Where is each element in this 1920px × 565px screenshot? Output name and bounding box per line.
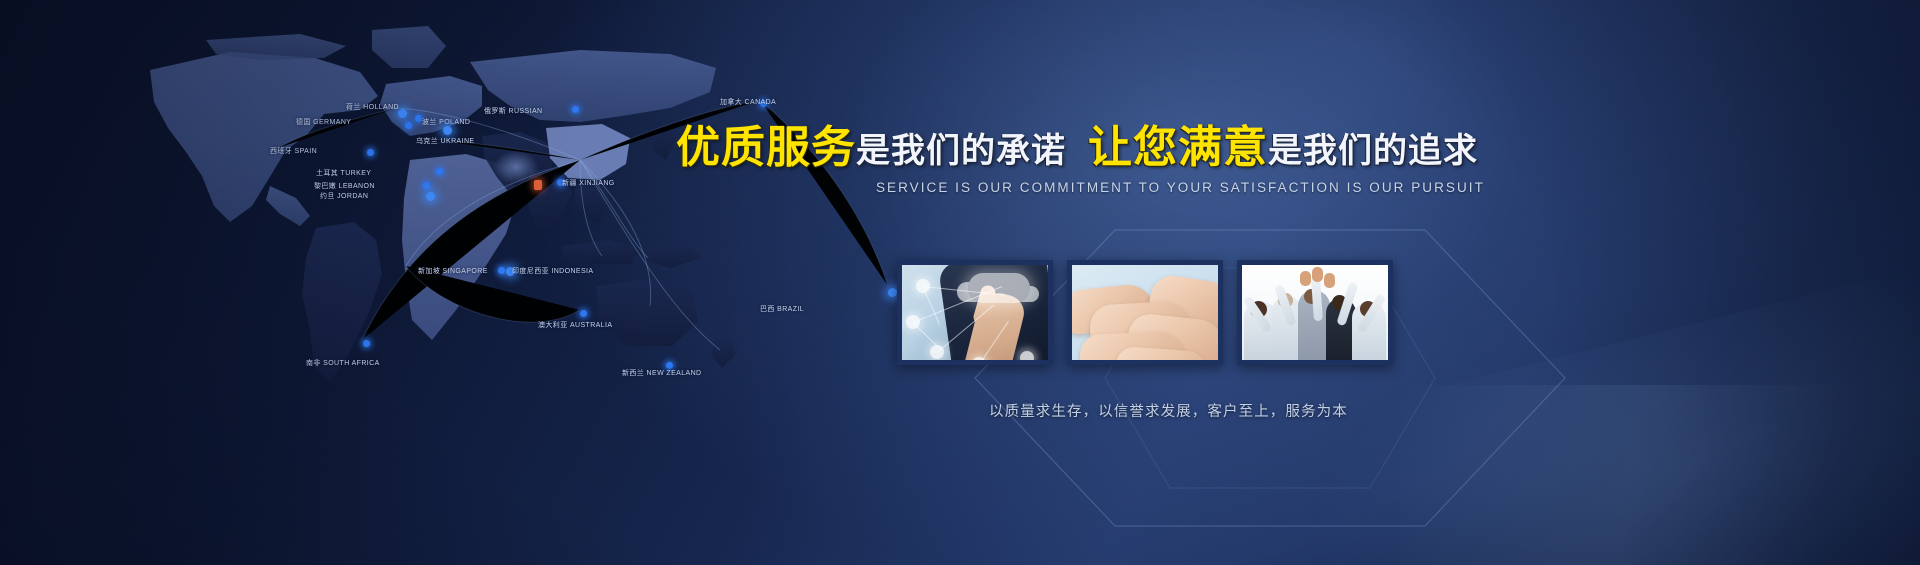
- page-title: 优质服务是我们的承诺让您满意是我们的追求: [676, 126, 1478, 170]
- map-pin-australia[interactable]: [580, 310, 587, 317]
- map-pin-brazil[interactable]: [888, 288, 897, 297]
- map-label-xinjiang: 新疆 XINJIANG: [562, 178, 615, 188]
- map-pin-spain[interactable]: [367, 149, 374, 156]
- map-label-brazil: 巴西 BRAZIL: [760, 304, 804, 314]
- headline-rest-1: 是我们的承诺: [856, 132, 1066, 170]
- map-label-turkey: 土耳其 TURKEY: [316, 168, 371, 178]
- cloud-network-touch-photo: [897, 260, 1053, 365]
- bottom-tagline: 以质量求生存，以信誉求发展，客户至上，服务为本: [989, 400, 1348, 421]
- map-label-russian: 俄罗斯 RUSSIAN: [484, 106, 542, 116]
- light-streak-decor-2: [1400, 385, 1920, 565]
- map-label-lebanon: 黎巴嫩 LEBANON: [314, 181, 375, 191]
- photo-strip: [897, 260, 1393, 365]
- map-label-new-zealand: 新西兰 NEW ZEALAND: [622, 368, 702, 378]
- map-label-holland: 荷兰 HOLLAND: [346, 102, 399, 112]
- headline-rest-2: 是我们的追求: [1268, 132, 1478, 170]
- map-label-canada: 加拿大 CANADA: [720, 97, 776, 107]
- map-pin-south-africa[interactable]: [363, 340, 370, 347]
- headline-highlight-1: 优质服务: [676, 123, 856, 172]
- map-pin-singapore[interactable]: [498, 267, 505, 274]
- headline-highlight-2: 让您满意: [1088, 123, 1268, 172]
- map-pin-lebanon[interactable]: [423, 182, 430, 189]
- map-pin-poland[interactable]: [415, 115, 422, 122]
- team-highfive-photo: [1237, 260, 1393, 365]
- hq-marker: [534, 180, 542, 190]
- world-map: 荷兰 HOLLAND德国 GERMANY波兰 POLAND俄罗斯 RUSSIAN…: [110, 10, 940, 430]
- map-label-spain: 西班牙 SPAIN: [270, 146, 317, 156]
- map-label-jordan: 约旦 JORDAN: [320, 191, 368, 201]
- map-label-singapore: 新加坡 SINGAPORE: [418, 266, 488, 276]
- china-highlight: [493, 150, 539, 184]
- map-pin-holland[interactable]: [398, 109, 407, 118]
- map-label-germany: 德国 GERMANY: [296, 117, 351, 127]
- map-label-ukraine: 乌克兰 UKRAINE: [416, 136, 474, 146]
- map-pin-jordan[interactable]: [426, 192, 435, 201]
- map-pin-turkey[interactable]: [436, 168, 443, 175]
- map-label-australia: 澳大利亚 AUSTRALIA: [538, 320, 612, 330]
- hero-banner: 荷兰 HOLLAND德国 GERMANY波兰 POLAND俄罗斯 RUSSIAN…: [0, 0, 1920, 565]
- map-pin-germany[interactable]: [405, 122, 412, 129]
- hands-together-photo: [1067, 260, 1223, 365]
- map-label-south-africa: 南非 SOUTH AFRICA: [306, 358, 380, 368]
- map-label-indonesia: 印度尼西亚 INDONESIA: [512, 266, 593, 276]
- page-subtitle: SERVICE IS OUR COMMITMENT TO YOUR SATISF…: [876, 180, 1485, 195]
- map-pin-ukraine[interactable]: [443, 126, 452, 135]
- map-pin-russian[interactable]: [572, 106, 579, 113]
